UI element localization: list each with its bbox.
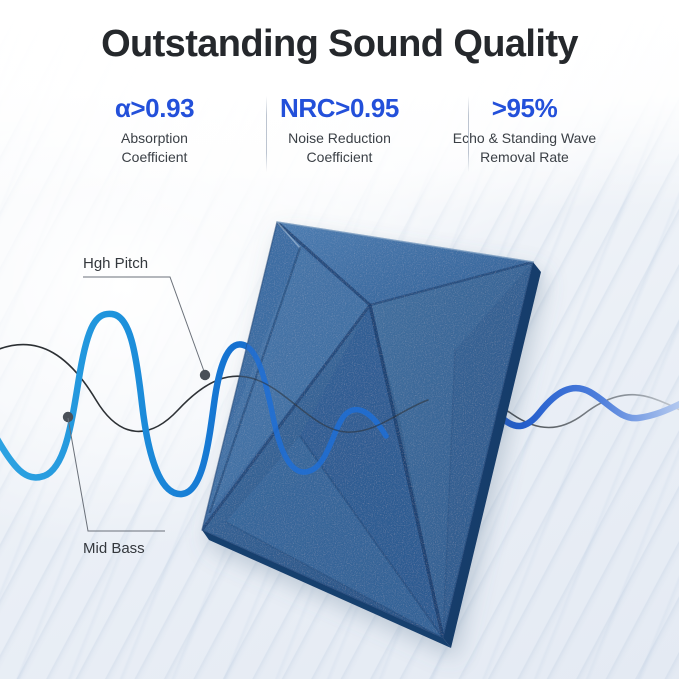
annotation-high-pitch-leader — [83, 277, 205, 374]
annotation-high-pitch-dot — [200, 370, 210, 380]
infographic-poster: Outstanding Sound Quality α>0.93 Absorpt… — [0, 0, 679, 679]
acoustic-panel — [202, 222, 541, 648]
product-scene: Hgh Pitch Mid Bass — [0, 0, 679, 679]
annotation-mid-bass: Mid Bass — [63, 412, 165, 557]
annotation-mid-bass-leader — [68, 418, 165, 531]
annotation-high-pitch-label: Hgh Pitch — [83, 255, 148, 272]
annotation-mid-bass-label: Mid Bass — [83, 540, 145, 557]
